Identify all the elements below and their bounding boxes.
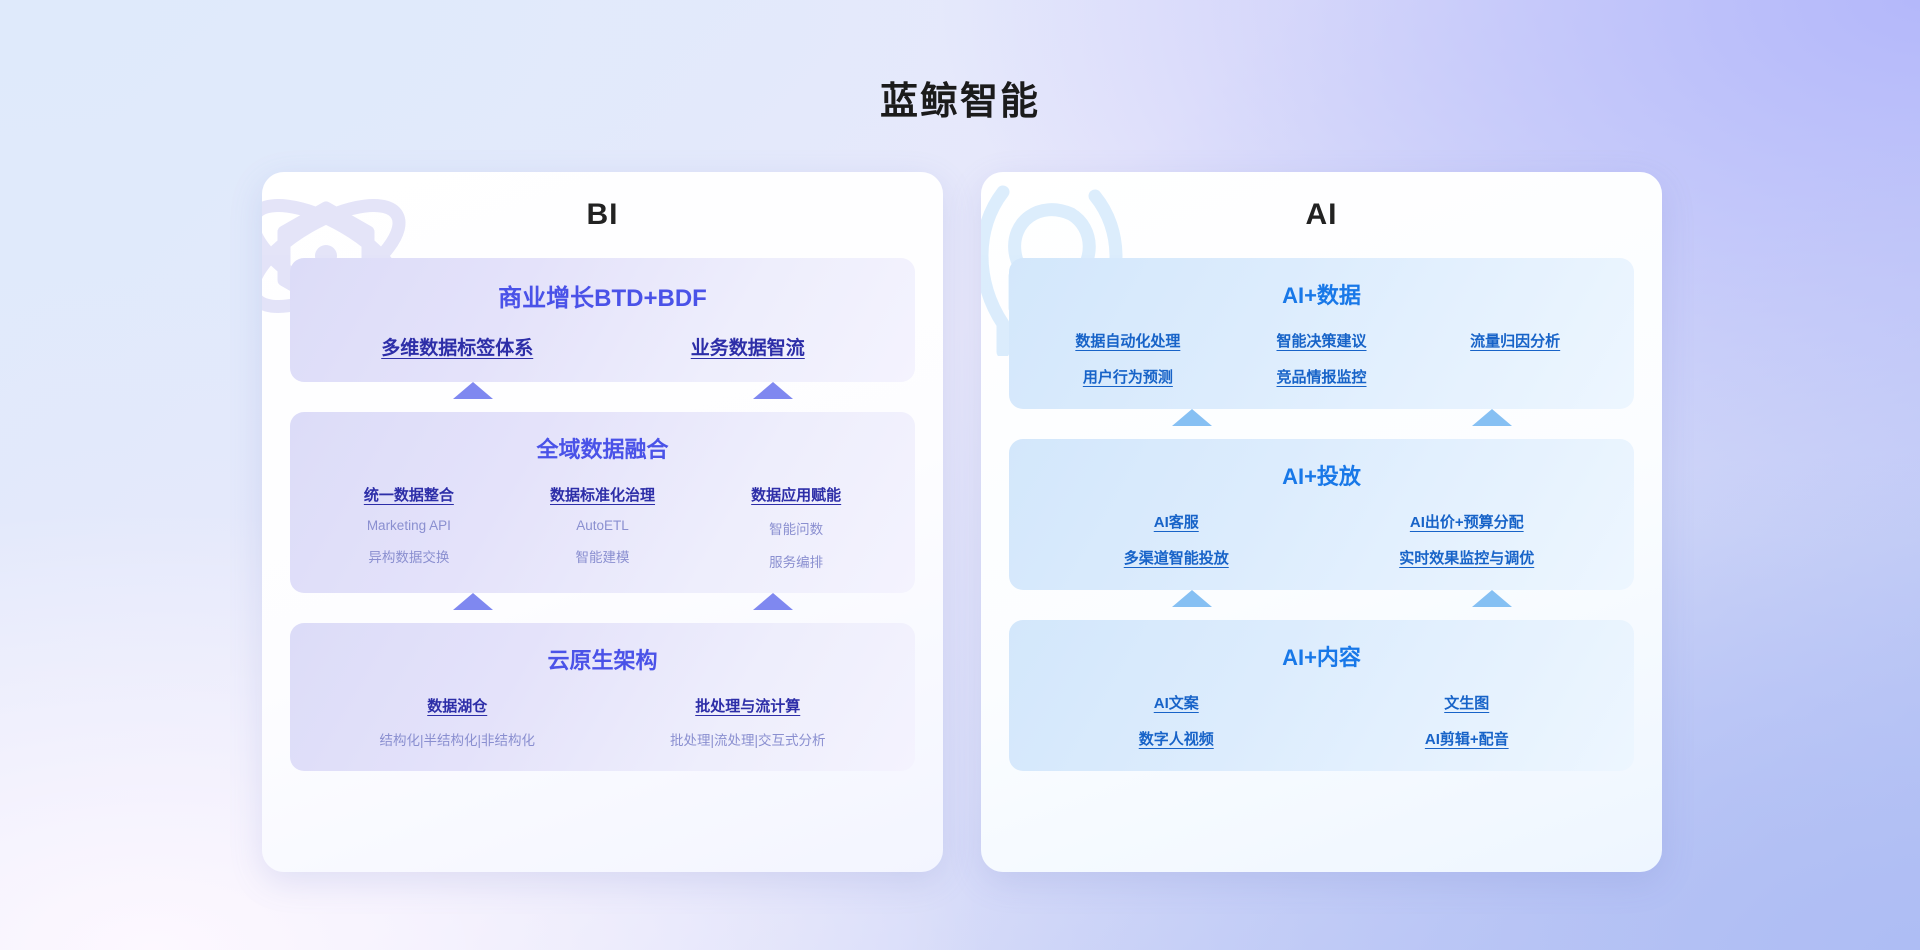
arrow-up-icon [453,593,493,610]
page-title: 蓝鲸智能 [0,70,1920,125]
ai-link-traffic-attribution[interactable]: 流量归因分析 [1470,330,1560,351]
ai-link-bidding-budget[interactable]: AI出价+预算分配 [1410,511,1524,532]
arrow-up-icon [1472,590,1512,607]
ai-card-content-columns: AI文案 数字人视频 文生图 AI剪辑+配音 [1031,692,1612,749]
ai-link-multichannel-delivery[interactable]: 多渠道智能投放 [1124,547,1229,568]
ai-link-auto-data-processing[interactable]: 数据自动化处理 [1075,330,1180,351]
panels-container: BI 商业增长BTD+BDF 多维数据标签体系 业务数据智流 [262,172,1662,872]
ai-data-col-2-row2: 竞品情报监控 [1225,366,1419,387]
bi-cloud-col-2: 批处理与流计算 批处理|流处理|交互式分析 [603,695,894,749]
bi-link-app-enablement[interactable]: 数据应用赋能 [751,484,841,505]
arrow-up-icon [753,382,793,399]
ai-card-data-columns: 数据自动化处理 用户行为预测 智能决策建议 竞品情报监控 流量归因分析 [1031,330,1612,387]
bi-sub-service-orchestration: 服务编排 [699,551,893,571]
bi-card-data-fusion-columns: 统一数据整合 Marketing API 异构数据交换 数据标准化治理 Auto… [312,484,893,571]
bi-card-cloud-native-title: 云原生架构 [312,643,893,675]
ai-arrow-row-1 [1009,409,1634,439]
ai-link-text-to-image[interactable]: 文生图 [1444,692,1489,713]
panel-bi: BI 商业增长BTD+BDF 多维数据标签体系 业务数据智流 [262,172,943,872]
ai-card-data-title: AI+数据 [1031,278,1612,310]
bi-arrow-row-2 [290,593,915,623]
panel-bi-stack: 商业增长BTD+BDF 多维数据标签体系 业务数据智流 全域数据融合 [290,258,915,771]
ai-link-copywriting[interactable]: AI文案 [1154,692,1199,713]
ai-data-col-1: 数据自动化处理 用户行为预测 [1031,330,1225,387]
arrow-up-icon [1472,409,1512,426]
ai-card-data: AI+数据 数据自动化处理 用户行为预测 智能决策建议 竞品情报监控 [1009,258,1634,409]
ai-delivery-col-2-row2: 实时效果监控与调优 [1322,547,1613,568]
bi-cloud-col-1: 数据湖仓 结构化|半结构化|非结构化 [312,695,603,749]
ai-link-competitor-intel-monitor[interactable]: 竞品情报监控 [1277,366,1367,387]
ai-delivery-col-1-row2: 多渠道智能投放 [1031,547,1322,568]
ai-card-delivery-columns: AI客服 多渠道智能投放 AI出价+预算分配 实时效果监控与调优 [1031,511,1612,568]
arrow-up-icon [453,382,493,399]
bi-link-multi-dim-tags[interactable]: 多维数据标签体系 [381,333,533,360]
ai-card-delivery: AI+投放 AI客服 多渠道智能投放 AI出价+预算分配 实时效果监控与调优 [1009,439,1634,590]
bi-link-standardized-governance[interactable]: 数据标准化治理 [550,484,655,505]
bi-link-data-lakehouse[interactable]: 数据湖仓 [427,695,487,716]
bi-card-growth-title: 商业增长BTD+BDF [312,278,893,313]
ai-arrow-row-2 [1009,590,1634,620]
ai-content-col-2: 文生图 AI剪辑+配音 [1322,692,1613,749]
bi-link-batch-stream[interactable]: 批处理与流计算 [695,695,800,716]
ai-data-col-2: 智能决策建议 竞品情报监控 [1225,330,1419,387]
bi-fusion-col-3: 数据应用赋能 智能问数 服务编排 [699,484,893,571]
ai-delivery-col-1: AI客服 多渠道智能投放 [1031,511,1322,568]
panel-bi-title: BI [290,198,915,232]
ai-content-col-1: AI文案 数字人视频 [1031,692,1322,749]
bi-sub-smart-modeling: 智能建模 [506,546,700,566]
ai-data-col-3: 流量归因分析 [1418,330,1612,387]
bi-sub-autoetl: AutoETL [506,518,700,533]
panel-ai-title: AI [1009,198,1634,232]
bi-sub-structured-types: 结构化|半结构化|非结构化 [312,729,603,749]
ai-card-content-title: AI+内容 [1031,640,1612,672]
ai-link-realtime-monitor-tuning[interactable]: 实时效果监控与调优 [1399,547,1534,568]
bi-arrow-row-1 [290,382,915,412]
bi-card-cloud-native: 云原生架构 数据湖仓 结构化|半结构化|非结构化 批处理与流计算 批处理|流处理… [290,623,915,771]
ai-link-digital-human-video[interactable]: 数字人视频 [1139,728,1214,749]
bi-card-growth: 商业增长BTD+BDF 多维数据标签体系 业务数据智流 [290,258,915,382]
panel-ai-stack: AI+数据 数据自动化处理 用户行为预测 智能决策建议 竞品情报监控 [1009,258,1634,771]
bi-link-business-data-flow[interactable]: 业务数据智流 [691,333,805,360]
bi-card-data-fusion: 全域数据融合 统一数据整合 Marketing API 异构数据交换 数据标准化… [290,412,915,593]
bi-card-growth-columns: 多维数据标签体系 业务数据智流 [312,333,893,360]
ai-data-col-1-row2: 用户行为预测 [1031,366,1225,387]
bi-card-data-fusion-title: 全域数据融合 [312,432,893,464]
ai-link-editing-voiceover[interactable]: AI剪辑+配音 [1425,728,1509,749]
panel-ai: AI AI+数据 数据自动化处理 用户行为预测 智能决策建议 竞品情报监控 [981,172,1662,872]
bi-sub-processing-modes: 批处理|流处理|交互式分析 [603,729,894,749]
bi-sub-smart-query: 智能问数 [699,518,893,538]
bi-sub-marketing-api: Marketing API [312,518,506,533]
bi-fusion-col-2: 数据标准化治理 AutoETL 智能建模 [506,484,700,571]
ai-content-col-1-row2: 数字人视频 [1031,728,1322,749]
ai-link-customer-service[interactable]: AI客服 [1154,511,1199,532]
bi-sub-hetero-exchange: 异构数据交换 [312,546,506,566]
ai-link-smart-decision-advice[interactable]: 智能决策建议 [1277,330,1367,351]
arrow-up-icon [1172,409,1212,426]
ai-card-delivery-title: AI+投放 [1031,459,1612,491]
ai-card-content: AI+内容 AI文案 数字人视频 文生图 AI剪辑+配音 [1009,620,1634,771]
ai-delivery-col-2: AI出价+预算分配 实时效果监控与调优 [1322,511,1613,568]
bi-fusion-col-1: 统一数据整合 Marketing API 异构数据交换 [312,484,506,571]
ai-content-col-2-row2: AI剪辑+配音 [1322,728,1613,749]
bi-growth-col-2: 业务数据智流 [603,333,894,360]
arrow-up-icon [753,593,793,610]
bi-link-unified-integration[interactable]: 统一数据整合 [364,484,454,505]
bi-growth-col-1: 多维数据标签体系 [312,333,603,360]
arrow-up-icon [1172,590,1212,607]
bi-card-cloud-native-columns: 数据湖仓 结构化|半结构化|非结构化 批处理与流计算 批处理|流处理|交互式分析 [312,695,893,749]
ai-link-user-behavior-prediction[interactable]: 用户行为预测 [1083,366,1173,387]
